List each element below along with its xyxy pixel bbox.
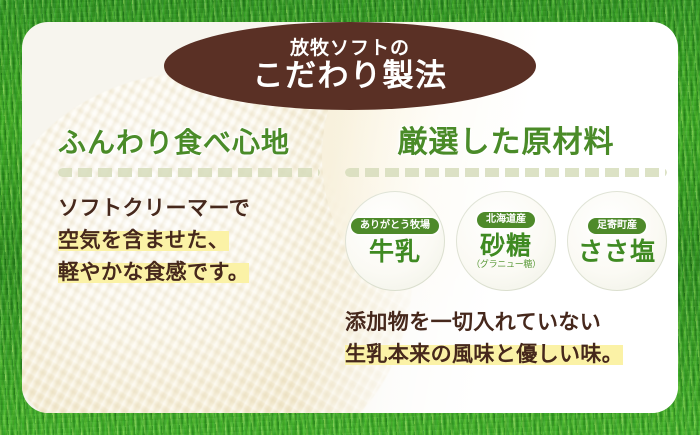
header-title: こだわり製法 — [253, 60, 448, 93]
ingredient-subtext: （グラニュー糖） — [471, 261, 541, 270]
header-subtitle: 放牧ソフトの — [290, 39, 410, 58]
ingredient-origin-badge: 足寄町産 — [588, 218, 646, 235]
left-dashed-divider — [58, 168, 320, 177]
right-body-line-2: 生乳本来の風味と優しい味。 — [345, 339, 623, 371]
ingredient-item: 北海道産 砂糖 （グラニュー糖） — [456, 191, 556, 291]
promo-banner: 放牧ソフトの こだわり製法 ふんわり食べ心地 ソフトクリーマーで 空気を含ませた… — [0, 0, 700, 435]
ingredient-item: 足寄町産 ささ塩 — [567, 191, 667, 291]
right-dashed-divider — [345, 168, 667, 177]
left-column: ふんわり食べ心地 ソフトクリーマーで 空気を含ませた、 軽やかな食感です。 — [58, 128, 320, 289]
right-column: 厳選した原材料 ありがとう牧場 牛乳 北海道産 砂糖 （グラニュー糖） 足寄町産… — [345, 126, 667, 370]
left-body-line-3: 軽やかな食感です。 — [58, 257, 249, 289]
right-body-line-1: 添加物を一切入れていない — [345, 307, 601, 339]
right-body-copy: 添加物を一切入れていない 生乳本来の風味と優しい味。 — [345, 307, 667, 370]
ingredient-origin-badge: ありがとう牧場 — [351, 218, 439, 235]
left-section-heading: ふんわり食べ心地 — [58, 128, 320, 159]
ingredient-item: ありがとう牧場 牛乳 — [345, 191, 445, 291]
ingredient-list: ありがとう牧場 牛乳 北海道産 砂糖 （グラニュー糖） 足寄町産 ささ塩 — [345, 191, 667, 291]
left-body-line-2: 空気を含ませた、 — [58, 225, 229, 257]
ingredient-name: 砂糖 — [480, 233, 532, 258]
left-body-copy: ソフトクリーマーで 空気を含ませた、 軽やかな食感です。 — [58, 193, 320, 289]
ingredient-name: 牛乳 — [369, 239, 421, 264]
right-section-heading: 厳選した原材料 — [345, 126, 667, 159]
header-oval: 放牧ソフトの こだわり製法 — [164, 22, 536, 110]
ingredient-origin-badge: 北海道産 — [477, 212, 535, 229]
left-body-line-1: ソフトクリーマーで — [58, 193, 250, 225]
ingredient-name: ささ塩 — [578, 239, 656, 264]
